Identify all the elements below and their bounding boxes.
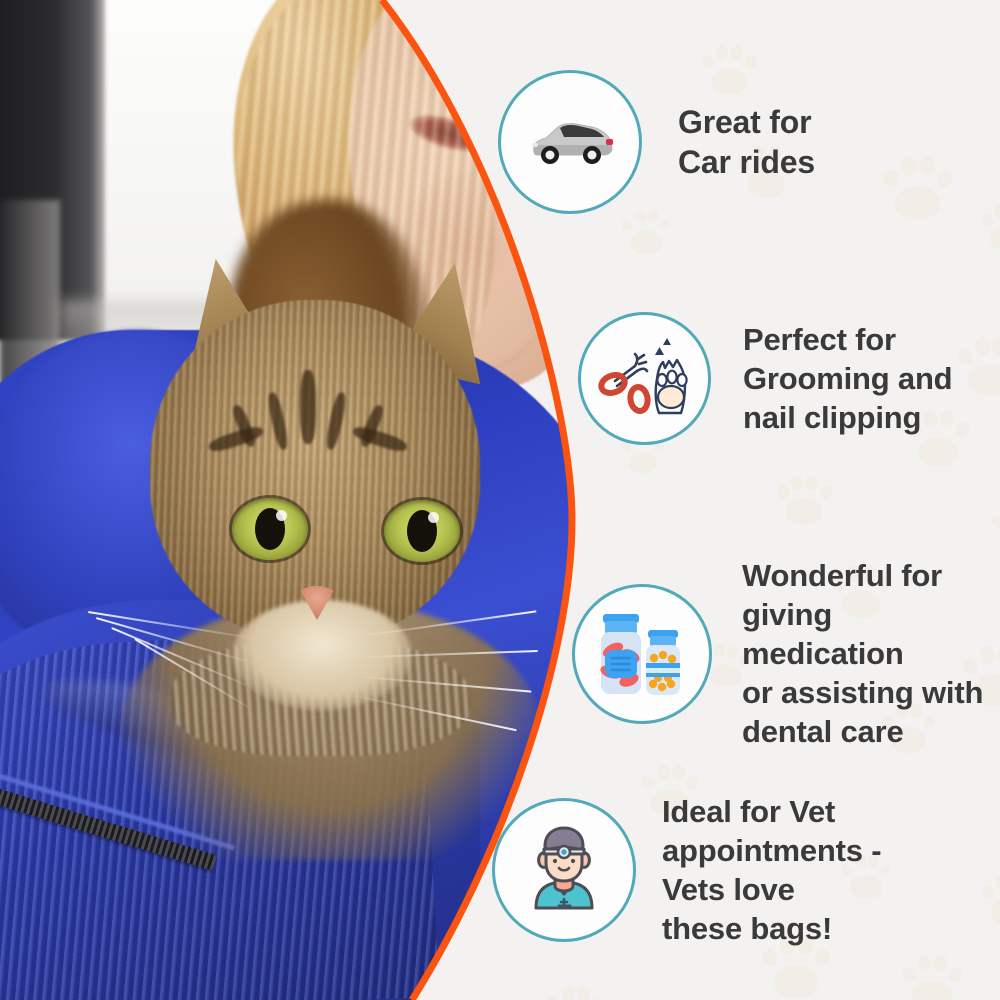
car-icon <box>498 70 642 214</box>
feature-item-medication[interactable]: Wonderful for giving medication or assis… <box>572 556 1000 751</box>
medication-bottles-icon <box>572 584 712 724</box>
feature-label: Perfect for Grooming and nail clipping <box>743 320 952 437</box>
nail-clippers-paw-icon <box>578 312 711 445</box>
feature-item-car-rides[interactable]: Great for Car rides <box>498 70 815 214</box>
feature-item-grooming[interactable]: Perfect for Grooming and nail clipping <box>578 312 952 445</box>
feature-label: Wonderful for giving medication or assis… <box>742 556 1000 751</box>
cat-eye-right <box>384 500 460 562</box>
cat-eye-left <box>232 498 308 560</box>
feature-label: Great for Car rides <box>678 102 815 182</box>
feature-item-vet[interactable]: Ideal for Vet appointments - Vets love t… <box>492 792 881 948</box>
infographic-canvas: Great for Car rides <box>0 0 1000 1000</box>
feature-label: Ideal for Vet appointments - Vets love t… <box>662 792 881 948</box>
veterinarian-icon <box>492 798 636 942</box>
